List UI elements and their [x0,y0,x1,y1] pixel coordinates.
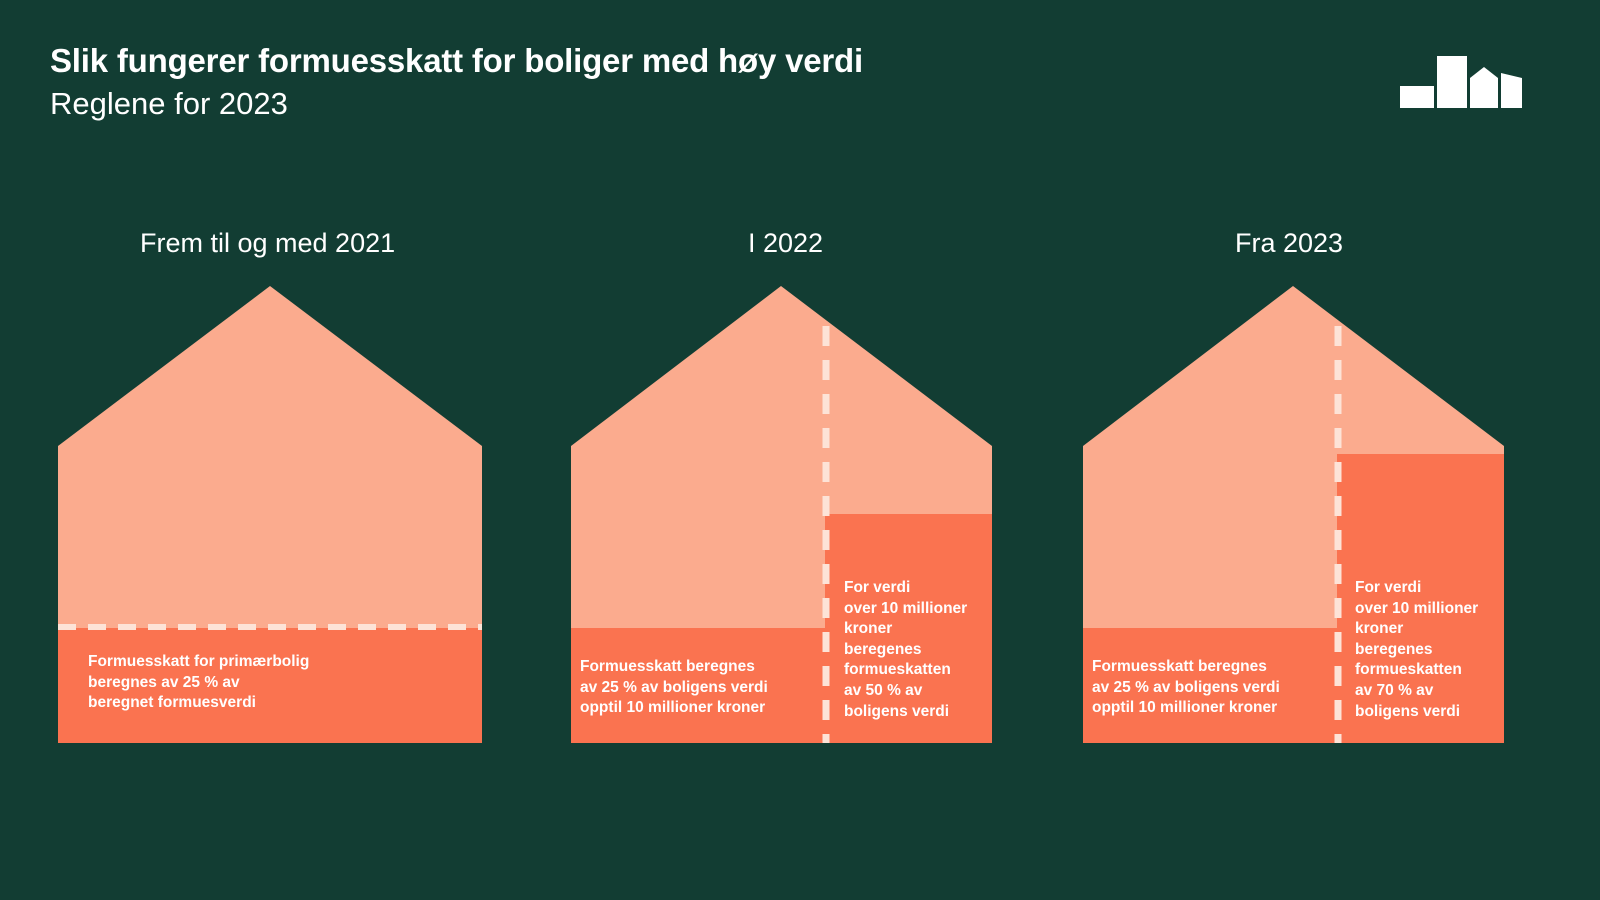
header: Slik fungerer formuesskatt for boliger m… [50,42,1350,122]
infographic-canvas: Slik fungerer formuesskatt for boliger m… [0,0,1600,900]
page-subtitle: Reglene for 2023 [50,85,1350,122]
column-title-2021: Frem til og med 2021 [140,228,395,259]
page-title: Slik fungerer formuesskatt for boliger m… [50,42,1350,81]
caption-2022-left: Formuesskatt beregnes av 25 % av boligen… [580,657,825,719]
column-title-2023: Fra 2023 [1235,228,1343,259]
caption-2023-right: For verdi over 10 millioner kroner bereg… [1355,578,1510,722]
caption-2021-primary: Formuesskatt for primærbolig beregnes av… [88,652,398,714]
buildings-skyline-logo [1400,56,1522,108]
column-title-2022: I 2022 [748,228,823,259]
caption-2022-right: For verdi over 10 millioner kroner bereg… [844,578,999,722]
caption-2023-left: Formuesskatt beregnes av 25 % av boligen… [1092,657,1337,719]
